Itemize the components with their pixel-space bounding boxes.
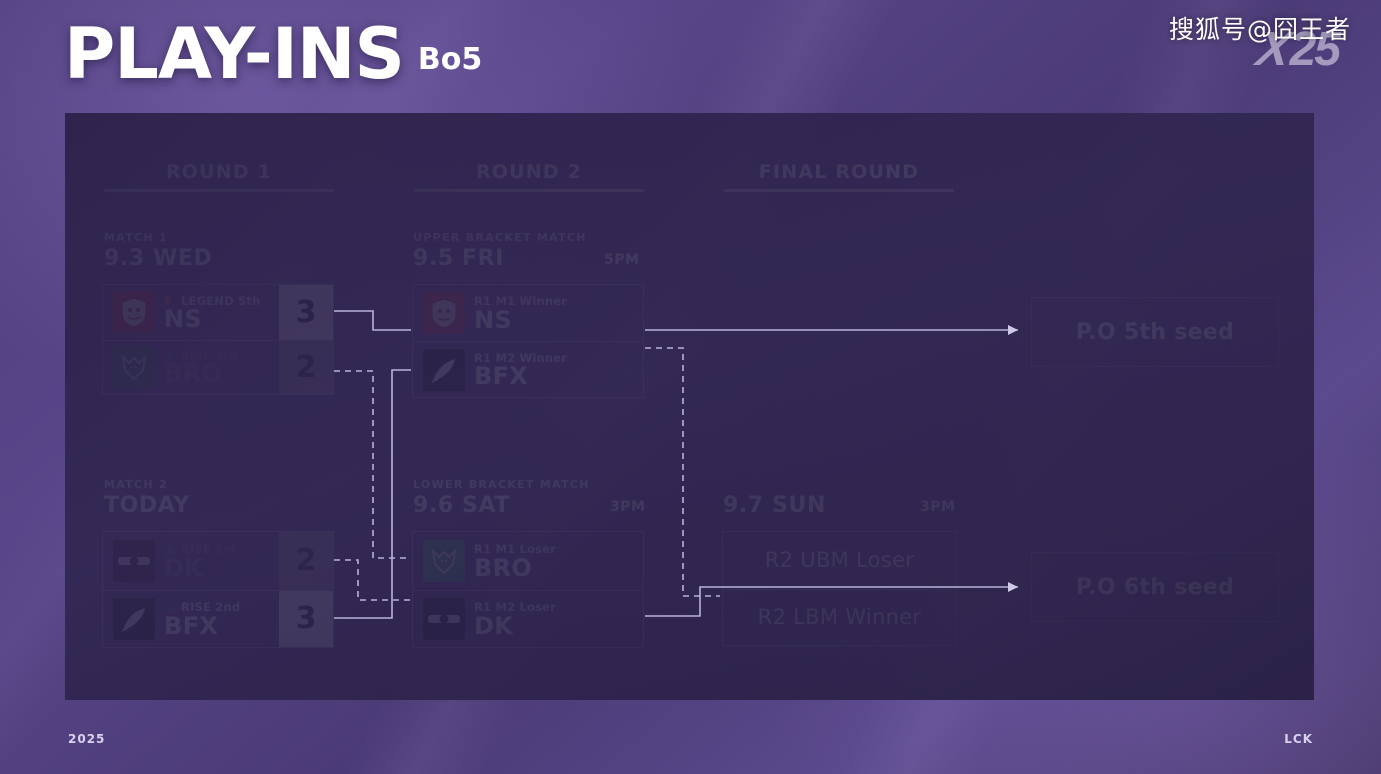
footer-league: LCK (1284, 732, 1313, 746)
page-title: PLAY-INS Bo5 (64, 22, 482, 86)
title-text: PLAY-INS (64, 22, 404, 86)
watermark: 搜狐号@囧王者 (1169, 10, 1351, 46)
bracket-panel (65, 113, 1314, 700)
title-subtitle: Bo5 (418, 42, 482, 77)
footer-year: 2025 (68, 732, 105, 746)
